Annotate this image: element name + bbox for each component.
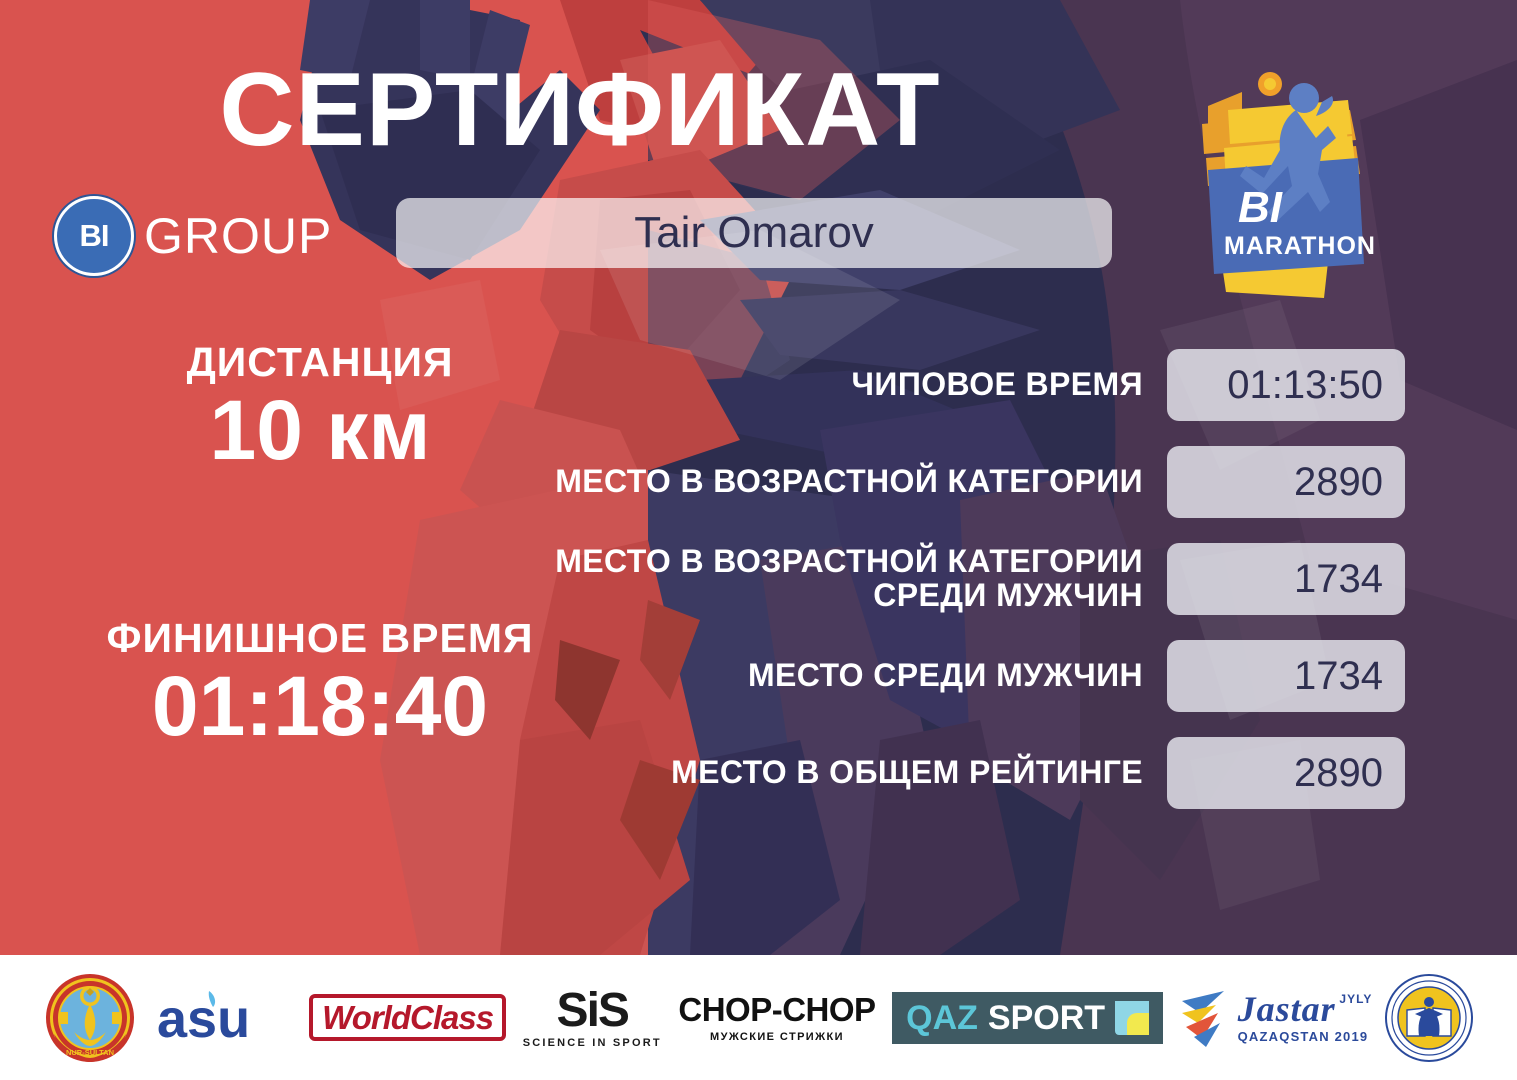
finish-time-label: ФИНИШНОЕ ВРЕМЯ xyxy=(60,616,580,662)
distance-label: ДИСТАНЦИЯ xyxy=(60,340,580,386)
stat-label: МЕСТО В ВОЗРАСТНОЙ КАТЕГОРИИ СРЕДИ МУЖЧИ… xyxy=(520,545,1167,613)
sis-wordmark: SiS xyxy=(523,987,662,1035)
stat-value: 01:13:50 xyxy=(1227,365,1383,405)
distance-block: ДИСТАНЦИЯ 10 км xyxy=(60,340,580,474)
ministry-emblem-icon xyxy=(1385,974,1473,1062)
distance-value: 10 км xyxy=(60,386,580,474)
sponsor-world-class: WorldClass xyxy=(309,970,506,1066)
sponsor-asu: asu xyxy=(153,970,293,1066)
nur-sultan-label: NUR-SULTAN xyxy=(66,1048,114,1057)
stat-label: ЧИПОВОЕ ВРЕМЯ xyxy=(520,368,1167,402)
bi-marathon-logo: BI MARATHON xyxy=(1180,62,1400,302)
class-text: Class xyxy=(410,999,493,1036)
chop-chop-tagline: МУЖСКИЕ СТРИЖКИ xyxy=(678,1032,875,1043)
stat-label: МЕСТО СРЕДИ МУЖЧИН xyxy=(520,659,1167,693)
stat-value: 1734 xyxy=(1294,656,1383,696)
sport-text: SPORT xyxy=(988,1001,1105,1035)
right-stats-column: ЧИПОВОЕ ВРЕМЯ 01:13:50 МЕСТО В ВОЗРАСТНО… xyxy=(520,336,1405,821)
sponsor-band: NUR-SULTAN asu WorldClass SiS SCIENCE IN… xyxy=(0,955,1517,1080)
sponsor-qazsport: QAZSPORT xyxy=(892,970,1163,1066)
asu-wordmark: asu xyxy=(157,989,250,1049)
asu-logo-icon: asu xyxy=(153,985,293,1051)
stat-value-badge: 2890 xyxy=(1167,737,1405,809)
sponsor-nur-sultan: NUR-SULTAN xyxy=(44,970,136,1066)
nur-sultan-emblem-icon: NUR-SULTAN xyxy=(44,972,136,1064)
stat-row: МЕСТО В ВОЗРАСТНОЙ КАТЕГОРИИ СРЕДИ МУЖЧИ… xyxy=(520,530,1405,627)
stat-row: МЕСТО В ВОЗРАСТНОЙ КАТЕГОРИИ 2890 xyxy=(520,433,1405,530)
left-spacer xyxy=(60,474,580,616)
stat-value-badge: 01:13:50 xyxy=(1167,349,1405,421)
qazsport-mark-icon xyxy=(1115,1001,1149,1035)
jyly-text: JYLY xyxy=(1339,993,1372,1005)
stat-value: 1734 xyxy=(1294,559,1383,599)
stat-row: МЕСТО В ОБЩЕМ РЕЙТИНГЕ 2890 xyxy=(520,724,1405,821)
finish-time-value: 01:18:40 xyxy=(60,662,580,750)
bi-group-wordmark: GROUP xyxy=(144,211,332,261)
stat-value: 2890 xyxy=(1294,462,1383,502)
qazaqstan-2019-text: QAZAQSTAN 2019 xyxy=(1238,1029,1369,1044)
participant-name-bar: Tair Omarov xyxy=(396,198,1112,268)
world-text: World xyxy=(322,999,410,1036)
stat-row: ЧИПОВОЕ ВРЕМЯ 01:13:50 xyxy=(520,336,1405,433)
stat-row: МЕСТО СРЕДИ МУЖЧИН 1734 xyxy=(520,627,1405,724)
stat-value: 2890 xyxy=(1294,753,1383,793)
chop-chop-wordmark: CHOP-CHOP xyxy=(678,993,875,1026)
finish-time-block: ФИНИШНОЕ ВРЕМЯ 01:18:40 xyxy=(60,616,580,750)
jastar-wordmark: Jastar xyxy=(1238,989,1336,1029)
stat-value-badge: 1734 xyxy=(1167,640,1405,712)
jastar-bird-icon xyxy=(1180,987,1238,1049)
sponsor-jastar-jyly: JastarJYLY QAZAQSTAN 2019 xyxy=(1180,970,1369,1066)
qaz-text: QAZ xyxy=(906,1001,978,1035)
marathon-bi-text: BI xyxy=(1238,183,1283,232)
bi-circle-icon: BI xyxy=(54,196,134,276)
sponsor-chop-chop: CHOP-CHOP МУЖСКИЕ СТРИЖКИ xyxy=(678,970,875,1066)
sis-tagline: SCIENCE IN SPORT xyxy=(523,1038,662,1049)
bi-group-logo: BI GROUP xyxy=(54,196,332,276)
marathon-word-text: MARATHON xyxy=(1224,232,1376,260)
sponsor-sis: SiS SCIENCE IN SPORT xyxy=(523,970,662,1066)
sponsor-ministry xyxy=(1385,970,1473,1066)
stat-label: МЕСТО В ВОЗРАСТНОЙ КАТЕГОРИИ xyxy=(520,465,1167,499)
certificate: СЕРТИФИКАТ Tair Omarov BI GROUP xyxy=(0,0,1517,1080)
page-title: СЕРТИФИКАТ xyxy=(0,58,1160,162)
left-stats-column: ДИСТАНЦИЯ 10 км ФИНИШНОЕ ВРЕМЯ 01:18:40 xyxy=(60,340,580,750)
stat-value-badge: 1734 xyxy=(1167,543,1405,615)
stat-label: МЕСТО В ОБЩЕМ РЕЙТИНГЕ xyxy=(520,756,1167,790)
participant-name: Tair Omarov xyxy=(634,211,874,255)
stat-value-badge: 2890 xyxy=(1167,446,1405,518)
world-class-wordmark: WorldClass xyxy=(309,994,506,1041)
